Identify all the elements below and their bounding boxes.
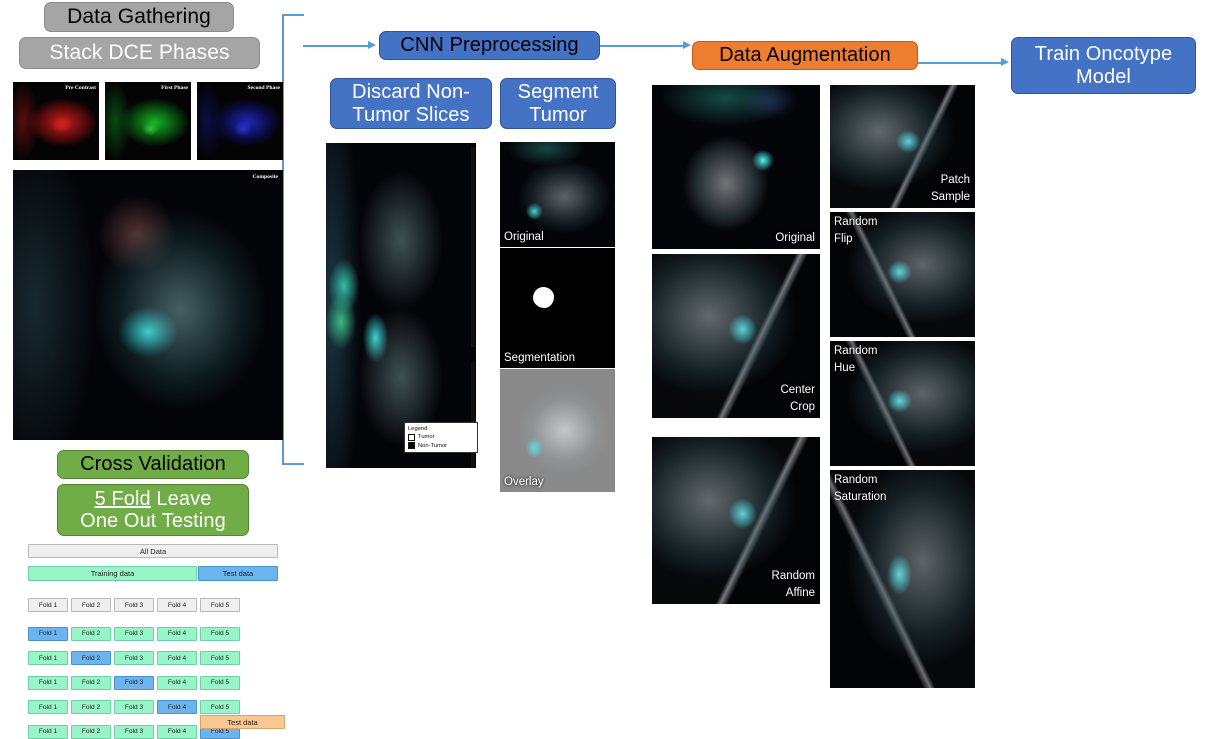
stage-cross-validation[interactable]: Cross Validation xyxy=(57,450,249,479)
cv-fold-cell: Fold 2 xyxy=(71,700,111,714)
dce-phase-label-first-phase: First Phase xyxy=(161,85,188,91)
dce-phase-image-second-phase: Second Phase xyxy=(197,82,283,160)
cv-fold-cell: Fold 5 xyxy=(200,627,240,641)
segment-panel-overlay-label: Overlay xyxy=(504,476,544,488)
cv-fold-cell: Fold 5 xyxy=(200,700,240,714)
cv-fold-cell: Fold 5 xyxy=(200,598,240,612)
cv-training-data-bar: Training data xyxy=(28,566,197,581)
stage-data-augmentation[interactable]: Data Augmentation xyxy=(692,41,918,70)
slices-legend: Legend Tumor Non-Tumor xyxy=(404,422,478,453)
stage-train-oncotype-model[interactable]: Train Oncotype Model xyxy=(1011,37,1196,94)
segment-panel-original-label: Original xyxy=(504,231,544,243)
aug-panel-original: Original xyxy=(652,85,820,249)
aug-panel-random-hue: Random Hue xyxy=(830,341,975,466)
line xyxy=(918,62,1003,64)
stage-stack-dce-phases[interactable]: Stack DCE Phases xyxy=(19,37,260,69)
aug-panel-random-flip-label1: Random xyxy=(834,216,877,228)
cv-fold-cell: Fold 1 xyxy=(28,725,68,739)
dce-phase-label-pre-contrast: Pre Contrast xyxy=(65,85,96,91)
aug-panel-random-affine-label1: Random xyxy=(772,570,815,582)
aug-panel-original-label: Original xyxy=(775,232,815,244)
slice-indicator-upper xyxy=(471,147,475,347)
stage-data-augmentation-label: Data Augmentation xyxy=(719,44,891,66)
step-discard-non-tumor-slices[interactable]: Discard Non- Tumor Slices xyxy=(330,78,492,129)
step-segment-tumor[interactable]: Segment Tumor xyxy=(500,78,616,129)
segment-panel-overlay: Overlay xyxy=(500,369,615,492)
cv-subtitle-line2: One Out Testing xyxy=(80,510,226,532)
cv-fold-cell: Fold 4 xyxy=(157,627,197,641)
aug-panel-random-saturation-label2: Saturation xyxy=(834,491,886,503)
cv-fold-cell: Fold 4 xyxy=(157,725,197,739)
stage-stack-dce-phases-label: Stack DCE Phases xyxy=(49,41,229,65)
cv-final-test-data-bar: Test data xyxy=(200,715,285,729)
aug-panel-patch-sample-label2: Sample xyxy=(931,191,970,203)
aug-panel-random-affine-label2: Affine xyxy=(786,587,815,599)
cv-fold-cell: Fold 3 xyxy=(114,700,154,714)
cv-fold-cell: Fold 3 xyxy=(114,598,154,612)
cv-fold-cell: Fold 2 xyxy=(71,725,111,739)
aug-panel-random-hue-label2: Hue xyxy=(834,362,855,374)
cv-test-data-bar: Test data xyxy=(198,566,278,581)
arrow-to-cnn-line xyxy=(303,45,370,47)
line xyxy=(600,45,685,47)
cv-subtitle-line1: 5 Fold Leave xyxy=(95,488,212,510)
segment-panel-segmentation: Segmentation xyxy=(500,248,615,368)
cv-all-data-label: All Data xyxy=(140,547,166,556)
aug-panel-center-crop-label1: Center xyxy=(780,384,815,396)
segment-line2: Tumor xyxy=(529,104,587,126)
cv-fold-cell: Fold 1 xyxy=(28,676,68,690)
cv-test-data-label: Test data xyxy=(223,569,253,578)
discard-line2: Tumor Slices xyxy=(352,104,469,126)
cv-fold-cell: Fold 1 xyxy=(28,700,68,714)
cv-subtitle-fold: 5 Fold xyxy=(95,488,151,510)
legend-label-non-tumor: Non-Tumor xyxy=(418,442,447,450)
cv-fold-cell: Fold 5 xyxy=(200,651,240,665)
cv-fold-cell: Fold 4 xyxy=(157,700,197,714)
legend-item-tumor: Tumor xyxy=(408,433,474,441)
legend-title: Legend xyxy=(408,425,474,433)
stage-train-oncotype-model-label: Train Oncotype Model xyxy=(1020,43,1187,88)
cv-training-data-label: Training data xyxy=(91,569,135,578)
cv-fold-cell: Fold 3 xyxy=(114,676,154,690)
cv-fold-cell: Fold 2 xyxy=(71,676,111,690)
segment-panel-original: Original xyxy=(500,142,615,247)
cv-fold-cell: Fold 3 xyxy=(114,725,154,739)
cv-fold-cell: Fold 5 xyxy=(200,676,240,690)
legend-swatch-non-tumor xyxy=(408,442,415,449)
discard-line1: Discard Non- xyxy=(352,81,470,103)
legend-swatch-tumor xyxy=(408,434,415,441)
stage-data-gathering[interactable]: Data Gathering xyxy=(44,2,234,32)
dce-phase-image-first-phase: First Phase xyxy=(105,82,191,160)
aug-panel-patch-sample-label1: Patch xyxy=(941,174,970,186)
aug-panel-random-flip: Random Flip xyxy=(830,212,975,337)
cv-fold-cell: Fold 1 xyxy=(28,627,68,641)
cv-final-test-data-label: Test data xyxy=(227,718,257,727)
cv-fold-cell: Fold 2 xyxy=(71,598,111,612)
slices-image xyxy=(326,143,476,468)
cv-fold-cell: Fold 3 xyxy=(114,627,154,641)
composite-label: Composite xyxy=(253,174,278,180)
cv-fold-cell: Fold 2 xyxy=(71,651,111,665)
aug-panel-patch-sample: Patch Sample xyxy=(830,85,975,208)
head xyxy=(683,41,691,49)
stage-cnn-preprocessing-label: CNN Preprocessing xyxy=(400,34,578,56)
aug-panel-random-hue-label1: Random xyxy=(834,345,877,357)
cv-fold-cell: Fold 4 xyxy=(157,598,197,612)
dce-phase-image-pre-contrast: Pre Contrast xyxy=(13,82,99,160)
stage-data-gathering-label: Data Gathering xyxy=(67,5,211,29)
stage-cross-validation-label: Cross Validation xyxy=(80,453,226,475)
aug-panel-random-flip-label2: Flip xyxy=(834,233,853,245)
cv-fold-cell: Fold 4 xyxy=(157,651,197,665)
cv-fold-cell: Fold 1 xyxy=(28,598,68,612)
cv-fold-cell: Fold 1 xyxy=(28,651,68,665)
cv-fold-cell: Fold 4 xyxy=(157,676,197,690)
segmentation-mask-blob xyxy=(533,287,554,308)
cv-all-data-bar: All Data xyxy=(28,544,278,558)
bracket-top xyxy=(282,14,304,16)
legend-label-tumor: Tumor xyxy=(418,433,435,441)
head xyxy=(1001,58,1009,66)
cross-validation-subtitle[interactable]: 5 Fold Leave One Out Testing xyxy=(57,484,249,536)
segment-panel-segmentation-label: Segmentation xyxy=(504,352,575,364)
arrow-to-cnn-head xyxy=(368,41,376,49)
cv-subtitle-rest: Leave xyxy=(151,488,212,510)
aug-panel-random-saturation-label1: Random xyxy=(834,474,877,486)
cv-fold-cell: Fold 3 xyxy=(114,651,154,665)
bracket-bottom xyxy=(282,463,304,465)
composite-image: Composite xyxy=(13,170,283,440)
aug-panel-random-affine: Random Affine xyxy=(652,437,820,604)
aug-panel-random-saturation: Random Saturation xyxy=(830,470,975,688)
dce-phase-label-second-phase: Second Phase xyxy=(248,85,280,91)
segment-line1: Segment xyxy=(518,81,599,103)
aug-panel-center-crop: Center Crop xyxy=(652,254,820,418)
aug-panel-center-crop-label2: Crop xyxy=(790,401,815,413)
cv-fold-cell: Fold 2 xyxy=(71,627,111,641)
legend-item-non-tumor: Non-Tumor xyxy=(408,442,474,450)
stage-cnn-preprocessing[interactable]: CNN Preprocessing xyxy=(379,31,600,60)
